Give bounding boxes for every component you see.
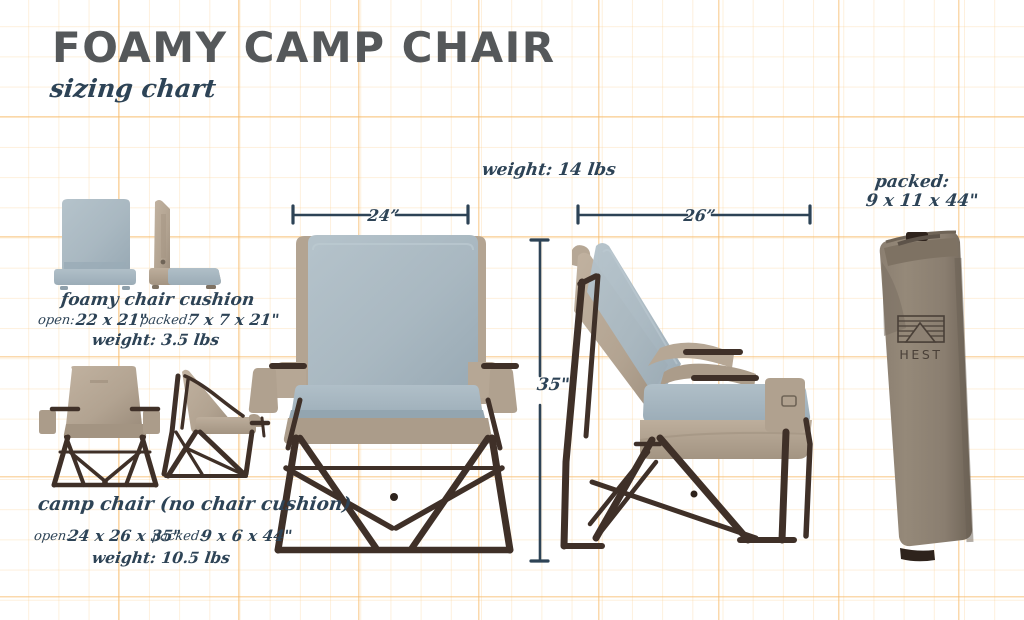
product-chair-side-main [564, 243, 812, 546]
packed-callout-line2: 9 x 11 x 44" [865, 191, 979, 211]
spec-campchair-open-label: open: [33, 529, 71, 544]
spec-cushion-open-label: open: [37, 313, 75, 328]
product-packed-bag: HEST [880, 232, 972, 561]
bag-brand-text: HEST [899, 347, 942, 362]
spec-cushion-name: foamy chair cushion [60, 290, 256, 310]
dimension-label-height: 35" [536, 375, 571, 395]
spec-campchair-weight: weight: 10.5 lbs [91, 548, 231, 567]
dimension-bar-height [531, 240, 548, 561]
spec-campchair-packed-label: packed: [151, 529, 204, 544]
weight-callout: weight: 14 lbs [481, 160, 617, 180]
spec-cushion-packed-label: packed: [139, 313, 192, 328]
product-cushion-front [54, 199, 136, 290]
spec-cushion-packed-value: 7 x 7 x 21" [187, 310, 281, 329]
dimension-label-width-front: 24” [366, 206, 401, 225]
spec-cushion-open-value: 22 x 21" [75, 310, 149, 329]
spec-campchair-name: camp chair (no chair cushion) [37, 494, 353, 515]
product-campchair-front [39, 366, 160, 485]
dimension-label-width-side: 26” [682, 206, 717, 225]
packed-callout-line1: packed: [874, 172, 950, 192]
spec-cushion-weight: weight: 3.5 lbs [91, 330, 221, 349]
product-cushion-side [149, 200, 221, 289]
spec-campchair-packed-value: 9 x 6 x 44" [200, 526, 294, 545]
